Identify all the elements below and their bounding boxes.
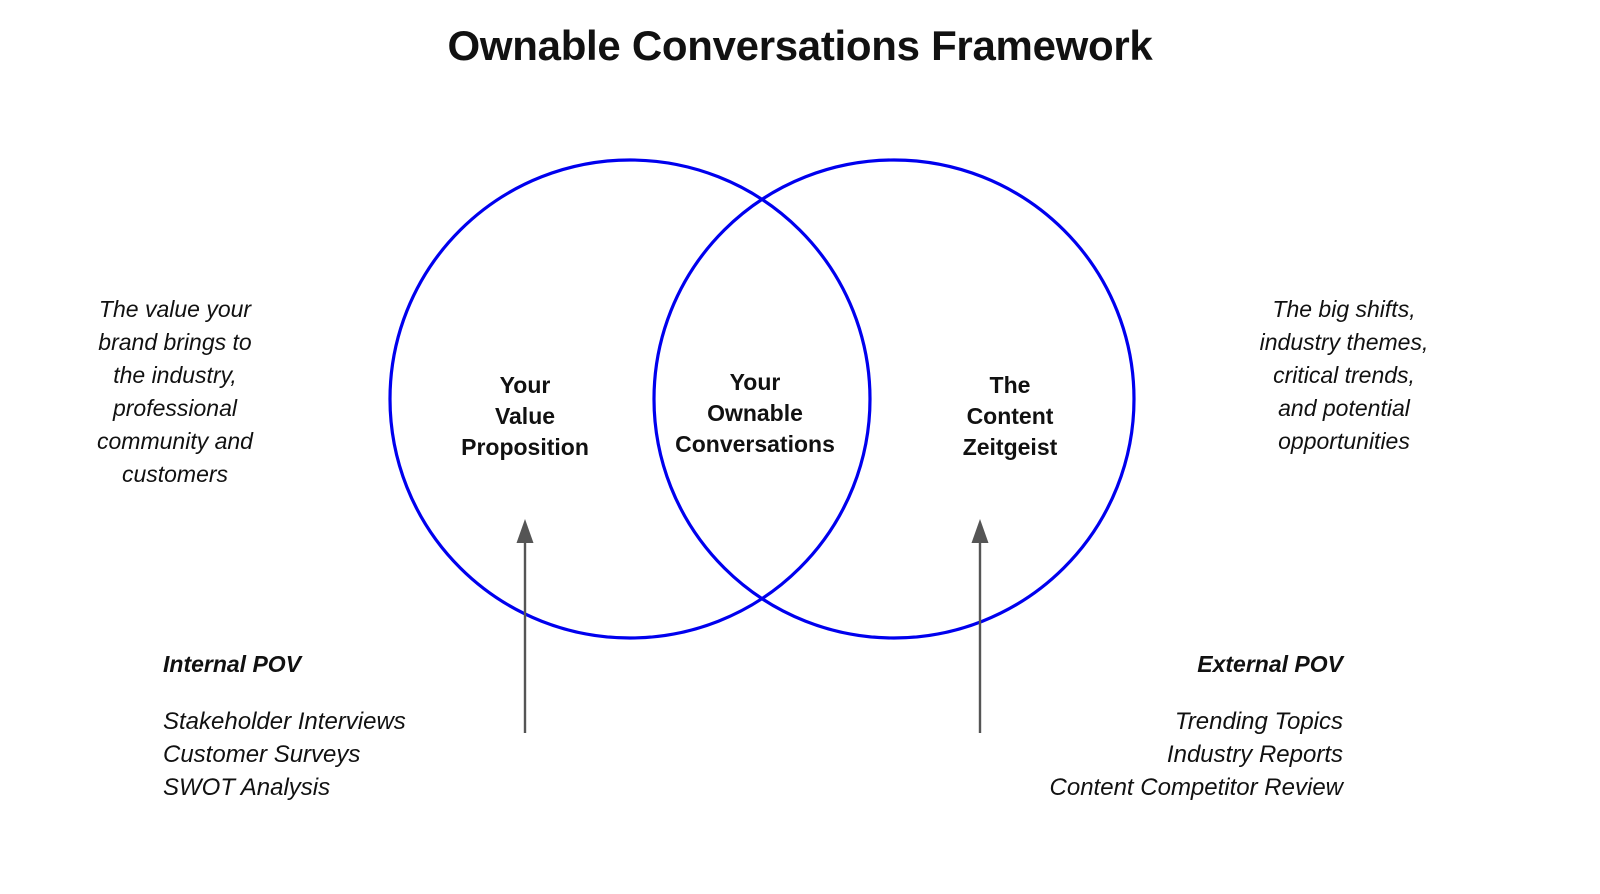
right-description: The big shifts, industry themes, critica… bbox=[1228, 293, 1460, 458]
left-description-line-5: community and bbox=[60, 425, 290, 458]
external-pov-item-3: Content Competitor Review bbox=[880, 771, 1343, 804]
right-circle-label-line-2: Content bbox=[910, 401, 1110, 432]
page-title: Ownable Conversations Framework bbox=[0, 22, 1600, 70]
left-circle-label: Your Value Proposition bbox=[425, 370, 625, 463]
overlap-label-line-3: Conversations bbox=[640, 429, 870, 460]
overlap-label-line-2: Ownable bbox=[640, 398, 870, 429]
right-description-line-2: industry themes, bbox=[1228, 326, 1460, 359]
right-description-line-4: and potential bbox=[1228, 392, 1460, 425]
up-arrow-external bbox=[972, 519, 989, 733]
left-description-line-4: professional bbox=[60, 392, 290, 425]
left-description-line-6: customers bbox=[60, 458, 290, 491]
internal-pov-list: Stakeholder Interviews Customer Surveys … bbox=[163, 705, 623, 804]
internal-pov-item-1: Stakeholder Interviews bbox=[163, 705, 623, 738]
left-description-line-3: the industry, bbox=[60, 359, 290, 392]
right-circle-label-line-3: Zeitgeist bbox=[910, 432, 1110, 463]
internal-pov-heading: Internal POV bbox=[163, 651, 301, 678]
left-circle-label-line-1: Your bbox=[425, 370, 625, 401]
external-pov-item-1: Trending Topics bbox=[880, 705, 1343, 738]
internal-pov-item-3: SWOT Analysis bbox=[163, 771, 623, 804]
overlap-label-line-1: Your bbox=[640, 367, 870, 398]
left-circle-label-line-3: Proposition bbox=[425, 432, 625, 463]
left-description-line-1: The value your bbox=[60, 293, 290, 326]
right-description-line-1: The big shifts, bbox=[1228, 293, 1460, 326]
right-description-line-3: critical trends, bbox=[1228, 359, 1460, 392]
overlap-label: Your Ownable Conversations bbox=[640, 367, 870, 460]
right-circle-label: The Content Zeitgeist bbox=[910, 370, 1110, 463]
up-arrow-internal bbox=[517, 519, 534, 733]
left-description-line-2: brand brings to bbox=[60, 326, 290, 359]
external-pov-heading: External POV bbox=[1000, 651, 1343, 678]
diagram-canvas: Ownable Conversations Framework Your Val… bbox=[0, 0, 1600, 894]
left-description: The value your brand brings to the indus… bbox=[60, 293, 290, 491]
external-pov-list: Trending Topics Industry Reports Content… bbox=[880, 705, 1343, 804]
right-description-line-5: opportunities bbox=[1228, 425, 1460, 458]
left-circle-label-line-2: Value bbox=[425, 401, 625, 432]
external-pov-item-2: Industry Reports bbox=[880, 738, 1343, 771]
right-circle-label-line-1: The bbox=[910, 370, 1110, 401]
internal-pov-item-2: Customer Surveys bbox=[163, 738, 623, 771]
